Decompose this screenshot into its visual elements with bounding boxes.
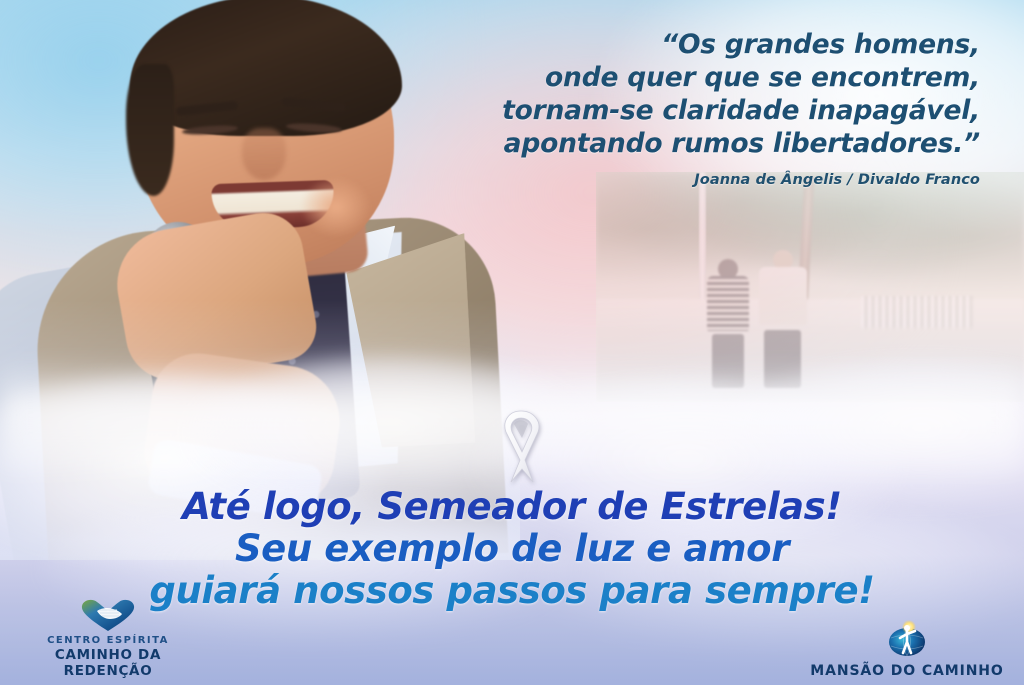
figure-legs	[712, 334, 744, 388]
scenery-figure-striped-shirt	[707, 259, 749, 388]
figure-torso	[707, 276, 749, 330]
portrait-nose	[242, 128, 286, 180]
quote-line-3: tornam-se claridade inapagável,	[420, 94, 980, 127]
quote-block: “Os grandes homens, onde quer que se enc…	[420, 28, 980, 188]
logo-left-line1: CENTRO ESPÍRITA	[8, 635, 208, 647]
message-line-2: Seu exemplo de luz e amor	[0, 528, 1024, 570]
logo-centro-espirita: CENTRO ESPÍRITA CAMINHO DA REDENÇÃO	[8, 598, 208, 679]
quote-attribution: Joanna de Ângelis / Divaldo Franco	[420, 172, 980, 188]
portrait-cheek	[300, 176, 372, 238]
heart-hand-icon	[79, 598, 137, 632]
tribute-message: Até logo, Semeador de Estrelas! Seu exem…	[0, 486, 1024, 612]
mourning-ribbon	[489, 408, 553, 486]
scenery-figure-white-shirt	[759, 250, 807, 388]
mourning-ribbon-icon	[489, 408, 553, 486]
scenery-two-men-walking	[596, 172, 1024, 402]
message-line-1: Até logo, Semeador de Estrelas!	[0, 486, 1024, 528]
globe-figure-icon	[884, 620, 930, 660]
logo-left-line2: CAMINHO DA REDENÇÃO	[8, 647, 208, 679]
logo-right-line1: MANSÃO DO CAMINHO	[802, 663, 1012, 679]
portrait-hair-side	[126, 64, 174, 196]
logo-mansao-do-caminho: MANSÃO DO CAMINHO	[802, 620, 1012, 679]
scenery-pole	[699, 172, 706, 305]
quote-line-1: “Os grandes homens,	[420, 28, 980, 61]
quote-line-4: apontando rumos libertadores.”	[420, 127, 980, 160]
memorial-poster: “Os grandes homens, onde quer que se enc…	[0, 0, 1024, 685]
figure-torso	[759, 267, 807, 325]
figure-legs	[764, 330, 800, 388]
scenery-ground	[596, 328, 1024, 402]
quote-line-2: onde quer que se encontrem,	[420, 61, 980, 94]
